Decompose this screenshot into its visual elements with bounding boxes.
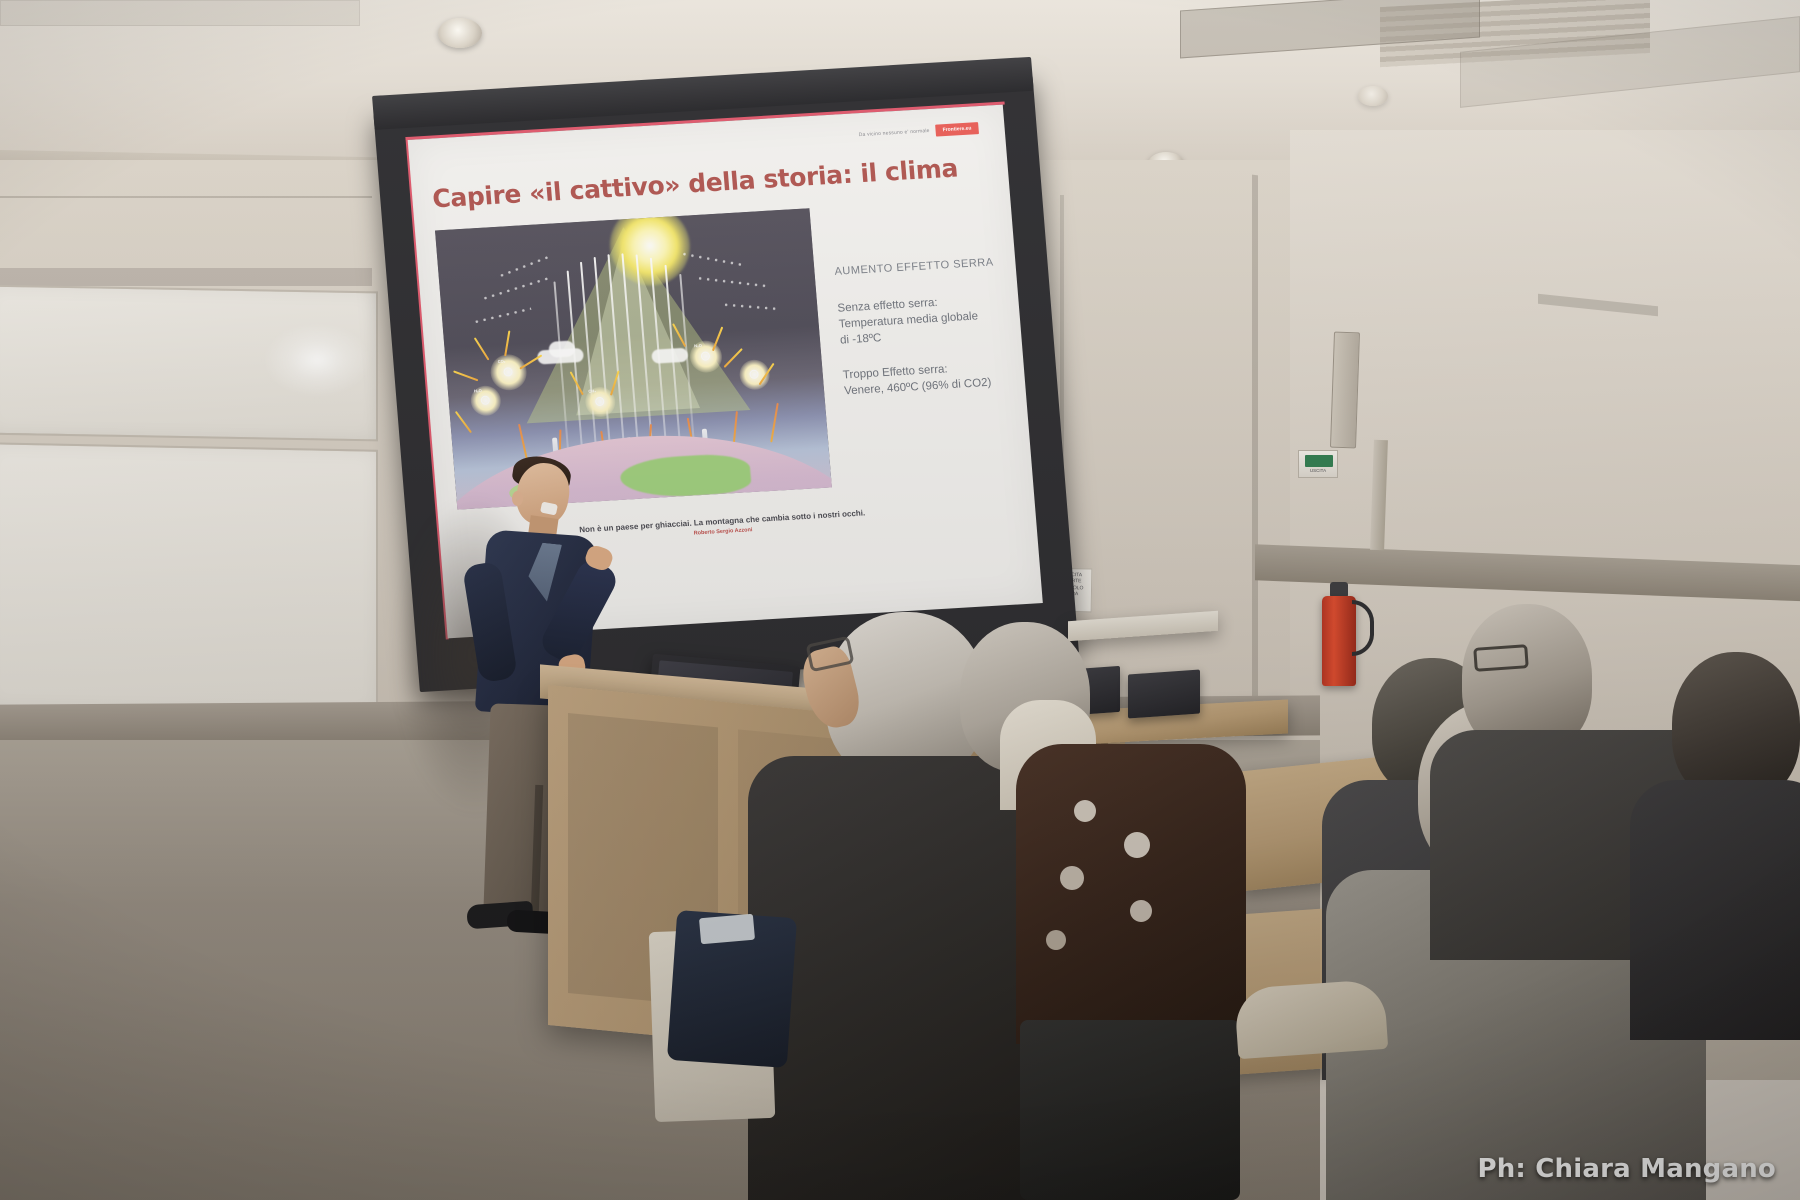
whiteboard <box>0 442 378 716</box>
ceiling-panel <box>0 0 360 26</box>
slide-title: Capire «il cattivo» della storia: il cli… <box>431 153 959 213</box>
paper-sheet <box>699 914 755 945</box>
sweater-pattern <box>1130 900 1152 922</box>
sweater-pattern <box>1074 800 1096 822</box>
seat-back <box>1020 1020 1240 1200</box>
laptop <box>1128 669 1200 718</box>
slide-logo-tagline: Da vicino nessuno e' normale <box>859 128 930 138</box>
molecule-label: N₂O <box>694 343 702 348</box>
molecule-label: CO₂ <box>497 358 505 363</box>
sweater-pattern <box>1060 866 1084 890</box>
exit-sign: USCITA <box>1298 450 1338 478</box>
fire-extinguisher-icon <box>1322 596 1356 686</box>
cloud-icon <box>651 348 688 364</box>
lecture-hall-scene: USCITA VIA D'USCITA ALLE PORTE NELL'ANGO… <box>0 0 1800 1200</box>
cloud-icon <box>548 340 575 357</box>
molecule-label: H₂O <box>474 388 482 393</box>
eyeglasses-icon <box>1473 644 1529 672</box>
ceiling-spotlight-icon <box>438 18 482 48</box>
exit-sign-label: USCITA <box>1299 468 1337 473</box>
wall-seam <box>0 196 372 198</box>
slide-logo: Da vicino nessuno e' normale Frontiere.e… <box>858 122 979 141</box>
slide-body-text: AUMENTO EFFETTO SERRA Senza effetto serr… <box>834 254 1026 417</box>
molecule-label: CH₄ <box>588 388 596 393</box>
audience-body <box>1630 780 1800 1040</box>
ceiling-spotlight-icon <box>1358 86 1388 106</box>
slide-logo-badge: Frontiere.eu <box>935 122 979 137</box>
exit-icon <box>1305 455 1333 467</box>
wall-light-glare <box>262 322 372 398</box>
wall-corner <box>1252 175 1258 736</box>
photo-credit: Ph: Chiara Mangano <box>1477 1154 1776 1184</box>
wall-speaker <box>1330 332 1360 449</box>
slide-body-paragraph-1: Senza effetto serra: Temperatura media g… <box>837 290 1021 350</box>
slide-body-paragraph-2: Troppo Effetto serra: Venere, 460ºC (96%… <box>842 356 1024 399</box>
sweater-pattern <box>1046 930 1066 950</box>
sweater-pattern <box>1124 832 1150 858</box>
audience-body <box>1016 744 1246 1044</box>
wall-panel <box>0 268 372 286</box>
slide-body-heading: AUMENTO EFFETTO SERRA <box>834 254 1015 280</box>
presenter-ear <box>512 491 523 506</box>
hat <box>1234 979 1389 1059</box>
